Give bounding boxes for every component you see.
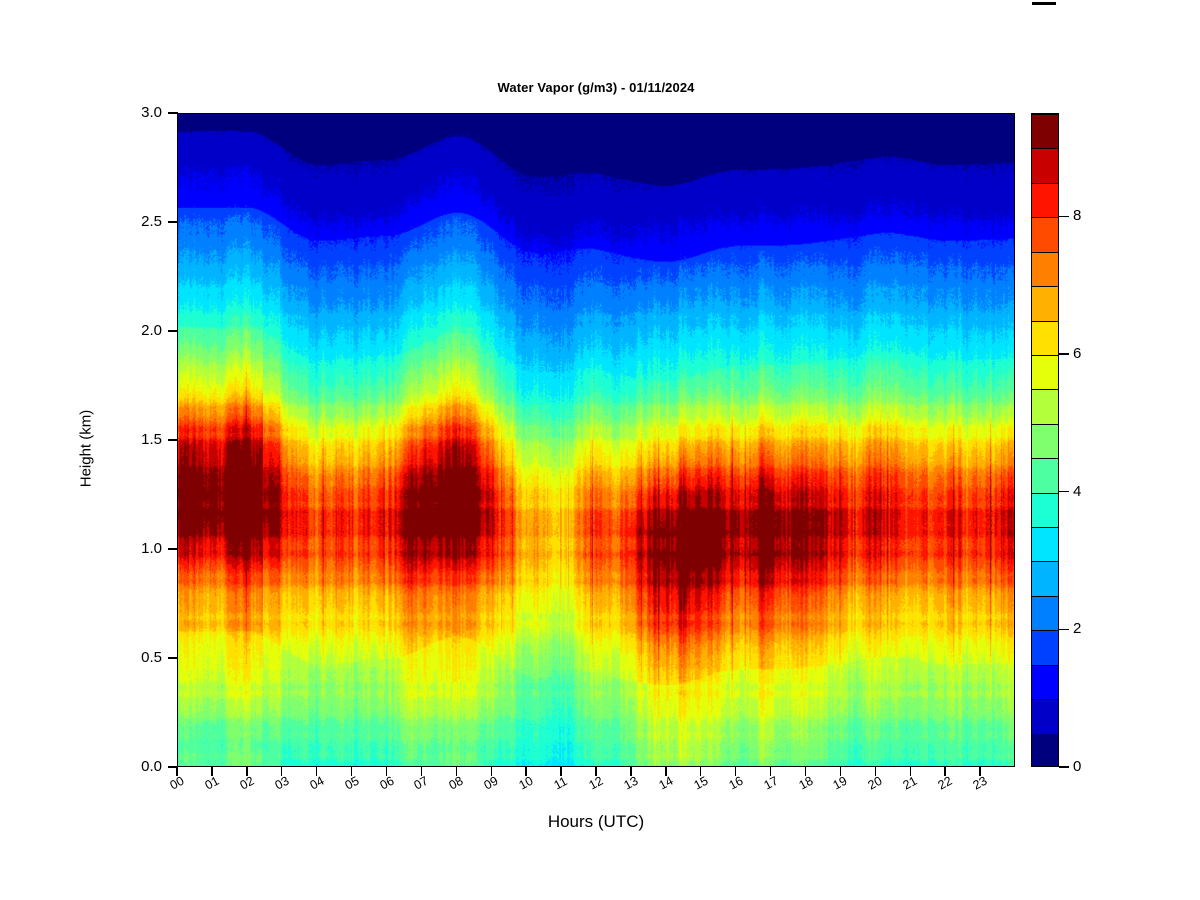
- colorbar-band: [1032, 286, 1058, 320]
- colorbar-tick-mark: [1059, 353, 1069, 354]
- colorbar-tick-mark: [1059, 629, 1069, 630]
- x-tick-label: 03: [273, 774, 291, 792]
- top-artifact-line: [1032, 2, 1056, 5]
- x-tick-label: 08: [447, 774, 465, 792]
- x-tick-label: 11: [552, 775, 569, 792]
- x-tick-label: 01: [203, 774, 221, 792]
- colorbar-tick-mark: [1059, 216, 1069, 217]
- x-tick-label: 06: [378, 774, 396, 792]
- colorbar-band: [1032, 389, 1058, 423]
- colorbar-band: [1032, 561, 1058, 595]
- colorbar-band: [1032, 148, 1058, 182]
- y-axis-title: Height (km): [78, 359, 95, 539]
- colorbar-band: [1032, 458, 1058, 492]
- colorbar-band: [1032, 183, 1058, 217]
- x-tick-label: 16: [727, 774, 745, 792]
- colorbar-tick-label: 2: [1073, 621, 1081, 636]
- colorbar-tick-mark: [1059, 766, 1069, 767]
- x-axis-title: Hours (UTC): [177, 812, 1015, 832]
- y-tick-label: 3.0: [141, 105, 162, 120]
- y-tick-label: 2.0: [141, 323, 162, 338]
- y-tick-mark: [168, 221, 178, 222]
- colorbar-tick-label: 6: [1073, 346, 1081, 361]
- x-tick-label: 17: [762, 774, 780, 792]
- y-tick-mark: [168, 330, 178, 331]
- colorbar-band: [1032, 355, 1058, 389]
- y-tick-label: 1.5: [141, 432, 162, 447]
- y-tick-mark: [168, 657, 178, 658]
- chart-title: Water Vapor (g/m3) - 01/11/2024: [177, 80, 1015, 95]
- colorbar-band: [1032, 217, 1058, 251]
- x-tick-label: 22: [936, 774, 954, 792]
- x-tick-label: 02: [238, 774, 256, 792]
- x-tick-label: 15: [692, 774, 710, 792]
- x-tick-label: 19: [831, 774, 849, 792]
- x-tick-label: 04: [308, 774, 326, 792]
- y-tick-label: 0.5: [141, 650, 162, 665]
- colorbar-tick-label: 8: [1073, 208, 1081, 223]
- colorbar: [1031, 113, 1059, 767]
- x-tick-label: 20: [866, 774, 884, 792]
- x-tick-label: 21: [901, 774, 919, 792]
- x-tick-label: 09: [482, 774, 500, 792]
- x-tick-label: 14: [657, 774, 675, 792]
- y-tick-label: 0.0: [141, 759, 162, 774]
- x-tick-label: 12: [587, 774, 605, 792]
- colorbar-band: [1032, 734, 1058, 767]
- colorbar-band: [1032, 424, 1058, 458]
- y-tick-mark: [168, 439, 178, 440]
- colorbar-tick-label: 4: [1073, 484, 1081, 499]
- colorbar-band: [1032, 493, 1058, 527]
- colorbar-band: [1032, 665, 1058, 699]
- y-tick-mark: [168, 548, 178, 549]
- colorbar-band: [1032, 699, 1058, 733]
- y-tick-label: 2.5: [141, 214, 162, 229]
- colorbar-band: [1032, 596, 1058, 630]
- plot-area: [177, 113, 1015, 767]
- colorbar-band: [1032, 252, 1058, 286]
- x-tick-label: 05: [343, 774, 361, 792]
- x-tick-label: 13: [622, 774, 640, 792]
- colorbar-band: [1032, 114, 1058, 148]
- heatmap-canvas: [178, 114, 1014, 766]
- x-tick-label: 23: [971, 774, 989, 792]
- colorbar-tick-label: 0: [1073, 759, 1081, 774]
- colorbar-band: [1032, 321, 1058, 355]
- x-tick-label: 10: [517, 774, 535, 792]
- x-tick-label: 00: [168, 774, 186, 792]
- water-vapor-figure: Water Vapor (g/m3) - 01/11/2024 0.00.51.…: [0, 0, 1200, 900]
- colorbar-band: [1032, 630, 1058, 664]
- colorbar-band: [1032, 527, 1058, 561]
- colorbar-tick-mark: [1059, 491, 1069, 492]
- y-tick-label: 1.0: [141, 541, 162, 556]
- x-tick-label: 07: [412, 774, 430, 792]
- y-tick-mark: [168, 112, 178, 113]
- x-tick-label: 18: [797, 774, 815, 792]
